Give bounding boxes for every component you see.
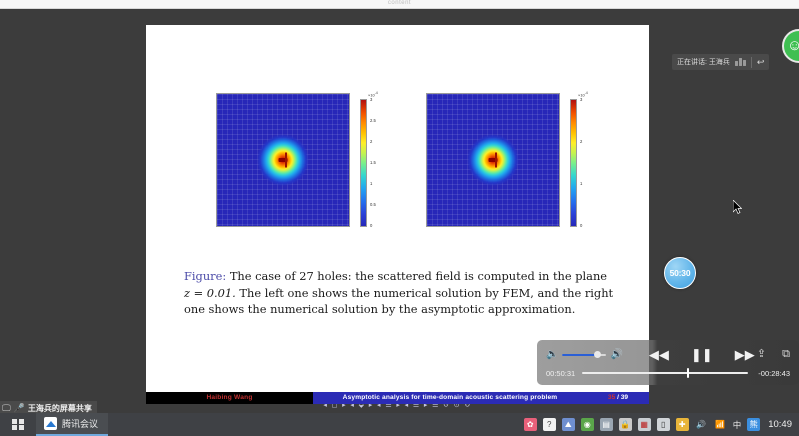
shared-desktop-area: 0.5 0.4 0.3 0.2 0.1 0 -0.1 -0.2 -0.3 -0.…	[0, 9, 799, 413]
plot-right-cbar-tick: 3	[580, 98, 582, 102]
pause-button[interactable]: ❚❚	[691, 348, 713, 361]
caption-line1: The case of 27 holes: the scattered fiel…	[226, 269, 607, 283]
plot-right-peak-marker	[495, 153, 497, 168]
plot-right-axes: 0.5 0.4 0.3 0.2 0.1 0 -0.1 -0.2 -0.3 -0.…	[426, 93, 560, 227]
collapse-arrow-icon[interactable]: ↩	[757, 58, 765, 67]
taskbar-item-label: 腾讯会议	[62, 417, 98, 430]
plot-right-colorbar: ×10-4 3 2 1 0	[570, 93, 592, 227]
elapsed-time: 00:50:31	[546, 369, 575, 378]
video-player-controls[interactable]: 🔈 🔊 ◀◀ ❚❚ ▶▶ ⇪ ⧉ 00:50:	[537, 340, 799, 385]
caption-label: Figure:	[184, 269, 226, 283]
meeting-timer-badge[interactable]: 50:30	[664, 257, 696, 289]
start-button[interactable]	[0, 413, 36, 436]
microphone-icon: 🎤	[14, 404, 25, 413]
volume-control[interactable]: 🔈 🔊	[546, 350, 623, 360]
baidu-icon[interactable]: 熊	[747, 418, 760, 431]
volume-high-icon[interactable]: 🔊	[610, 350, 622, 360]
colorbar-exp-power: -4	[585, 91, 588, 95]
ime-indicator[interactable]: 中	[733, 419, 742, 431]
meeting-timer-value: 50:30	[670, 268, 691, 278]
taskbar-item-tencent-meeting[interactable]: 腾讯会议	[36, 413, 108, 436]
mouse-cursor-icon	[733, 200, 742, 214]
plot-left-field-peak	[257, 134, 309, 186]
network-icon[interactable]: 📶	[714, 418, 727, 431]
participant-avatar[interactable]: ☺	[782, 29, 799, 63]
app-icon-5[interactable]: ▤	[600, 418, 613, 431]
volume-fill	[562, 354, 598, 356]
windows-logo-icon	[12, 419, 24, 431]
plot-right-field-peak	[467, 134, 519, 186]
plot-left-cbar-tick: 3	[370, 98, 372, 102]
app-icon-3[interactable]: ⛰	[562, 418, 575, 431]
app-icon-7[interactable]: ▦	[638, 418, 651, 431]
player-progress-row: 00:50:31 -00:28:43	[546, 365, 790, 381]
seek-knob[interactable]	[687, 368, 690, 378]
active-speaker-indicator: 正在讲话: 王海兵 ↩	[672, 54, 769, 70]
screen: content 0.5 0.4 0.3 0.2	[0, 0, 799, 436]
volume-knob[interactable]	[594, 351, 601, 358]
rewind-button[interactable]: ◀◀	[649, 348, 669, 361]
plot-left-cbar-tick: 0.5	[370, 203, 376, 207]
figure-caption: Figure: The case of 27 holes: the scatte…	[184, 268, 614, 318]
plot-left-axes: 0.5 0.4 0.3 0.2 0.1 0 -0.1 -0.2 -0.3 -0.…	[216, 93, 350, 227]
transport-controls: ◀◀ ❚❚ ▶▶	[649, 348, 755, 361]
plot-left-cbar-tick: 1.5	[370, 161, 376, 165]
footline-total-pages: 39	[621, 394, 628, 401]
volume-low-icon[interactable]: 🔈	[546, 350, 558, 360]
avatar-person-icon: ☺	[787, 37, 799, 54]
windows-taskbar: 腾讯会议 ✿ ? ⛰ ◉ ▤ 🔒 ▦ ▯ ✚ 🔊 📶 中 熊 10:49	[0, 413, 799, 436]
share-icon[interactable]: ⇪	[757, 349, 766, 360]
plot-left-colorbar: ×10-4 3 2.5 2 1.5 1 0.5 0	[360, 93, 382, 227]
plot-right-cbar-tick: 1	[580, 182, 582, 186]
app-icon-9[interactable]: ✚	[676, 418, 689, 431]
screen-share-label: 王海兵的屏幕共享	[28, 403, 92, 414]
plot-left-colorbar-gradient	[360, 99, 367, 227]
app-icon-6[interactable]: 🔒	[619, 418, 632, 431]
system-tray: ✿ ? ⛰ ◉ ▤ 🔒 ▦ ▯ ✚ 🔊 📶 中 熊 10:49	[524, 418, 799, 431]
remaining-time: -00:28:43	[758, 369, 790, 378]
player-right-icons: ⇪ ⧉	[757, 349, 790, 360]
plot-left-fem: 0.5 0.4 0.3 0.2 0.1 0 -0.1 -0.2 -0.3 -0.…	[190, 87, 386, 252]
footline-title: Asymptotic analysis for time-domain acou…	[313, 392, 587, 404]
figure-row: 0.5 0.4 0.3 0.2 0.1 0 -0.1 -0.2 -0.3 -0.…	[146, 87, 649, 252]
monitor-icon: 🖵	[2, 404, 11, 413]
caption-line2: The left one shows the numerical solutio…	[236, 286, 581, 300]
slide-footline: Haibing Wang Asymptotic analysis for tim…	[146, 392, 649, 404]
footline-author: Haibing Wang	[146, 392, 313, 404]
plot-right-colorbar-gradient	[570, 99, 577, 227]
picture-in-picture-icon[interactable]: ⧉	[782, 349, 790, 360]
plot-left-cbar-tick: 2	[370, 140, 372, 144]
plot-right-cbar-tick: 2	[580, 140, 582, 144]
volume-icon[interactable]: 🔊	[695, 418, 708, 431]
plot-right-asymptotic: 0.5 0.4 0.3 0.2 0.1 0 -0.1 -0.2 -0.3 -0.…	[400, 87, 596, 252]
caption-math: z = 0.01.	[184, 286, 236, 300]
plot-right-cbar-tick: 0	[580, 224, 582, 228]
taskbar-clock[interactable]: 10:49	[766, 419, 792, 430]
seek-slider[interactable]	[582, 372, 748, 374]
fast-forward-button[interactable]: ▶▶	[735, 348, 755, 361]
audio-level-icon	[735, 58, 746, 66]
plot-left-cbar-tick: 0	[370, 224, 372, 228]
colorbar-exp-power: -4	[375, 91, 378, 95]
volume-slider[interactable]	[562, 354, 606, 356]
player-top-row: 🔈 🔊 ◀◀ ❚❚ ▶▶ ⇪ ⧉	[546, 344, 790, 365]
plot-left-cbar-tick: 2.5	[370, 119, 376, 123]
window-title: content	[0, 0, 799, 7]
footline-page-indicator: 35 / 39	[587, 392, 649, 404]
app-icon-4[interactable]: ◉	[581, 418, 594, 431]
plot-left-cbar-tick: 1	[370, 182, 372, 186]
app-icon-8[interactable]: ▯	[657, 418, 670, 431]
app-icon-2[interactable]: ?	[543, 418, 556, 431]
tencent-meeting-icon	[44, 417, 57, 430]
app-icon-1[interactable]: ✿	[524, 418, 537, 431]
active-speaker-label: 正在讲话: 王海兵	[677, 57, 730, 67]
divider	[751, 57, 752, 68]
window-titlebar-strip: content	[0, 0, 799, 9]
plot-left-peak-marker	[285, 153, 287, 168]
